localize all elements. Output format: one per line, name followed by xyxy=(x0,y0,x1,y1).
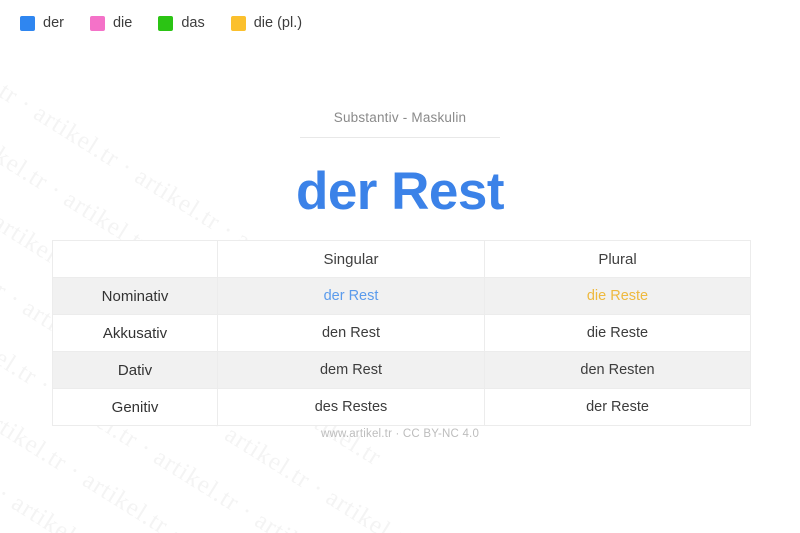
plural-form-cell: die Reste xyxy=(485,278,751,315)
footer-attribution: www.artikel.tr · CC BY-NC 4.0 xyxy=(0,428,800,440)
color-swatch-icon xyxy=(20,16,35,31)
legend-item-das-2: das xyxy=(158,16,204,31)
singular-form-cell: dem Rest xyxy=(218,352,485,389)
watermark-text: artikel.tr · artikel.tr · artikel.tr · a… xyxy=(0,512,536,533)
case-label-cell: Nominativ xyxy=(53,278,218,315)
color-swatch-icon xyxy=(90,16,105,31)
table-header: Singular Plural xyxy=(53,241,751,278)
case-label-cell: Akkusativ xyxy=(53,315,218,352)
legend-item-label: die (pl.) xyxy=(254,16,302,31)
table-row: Akkusativden Restdie Reste xyxy=(53,315,751,352)
singular-form-cell: den Rest xyxy=(218,315,485,352)
table-header-row: Singular Plural xyxy=(53,241,751,278)
legend-item-label: das xyxy=(181,16,204,31)
plural-form-cell: den Resten xyxy=(485,352,751,389)
plural-form-cell: die Reste xyxy=(485,315,751,352)
case-label-cell: Dativ xyxy=(53,352,218,389)
word-header: Substantiv - Maskulin der Rest xyxy=(0,110,800,220)
column-header-case xyxy=(53,241,218,278)
table-row: Dativdem Restden Resten xyxy=(53,352,751,389)
declension-table: Singular Plural Nominativder Restdie Res… xyxy=(52,240,751,426)
column-header-plural: Plural xyxy=(485,241,751,278)
singular-form-cell: der Rest xyxy=(218,278,485,315)
table-row: Nominativder Restdie Reste xyxy=(53,278,751,315)
table-row: Genitivdes Restesder Reste xyxy=(53,389,751,426)
article-color-legend: derdiedasdie (pl.) xyxy=(20,16,302,31)
table-body: Nominativder Restdie ResteAkkusativden R… xyxy=(53,278,751,426)
color-swatch-icon xyxy=(231,16,246,31)
column-header-singular: Singular xyxy=(218,241,485,278)
legend-item-der-0: der xyxy=(20,16,64,31)
case-label-cell: Genitiv xyxy=(53,389,218,426)
watermark-text: artikel.tr · artikel.tr · artikel.tr · a… xyxy=(0,426,506,533)
legend-item-label: der xyxy=(43,16,64,31)
plural-form-cell: der Reste xyxy=(485,389,751,426)
legend-item-label: die xyxy=(113,16,132,31)
legend-item-die-1: die xyxy=(90,16,132,31)
header-divider xyxy=(300,137,500,138)
color-swatch-icon xyxy=(158,16,173,31)
word-type-label: Substantiv - Maskulin xyxy=(0,110,800,125)
singular-form-cell: des Restes xyxy=(218,389,485,426)
legend-item-diepl-3: die (pl.) xyxy=(231,16,302,31)
page-title: der Rest xyxy=(0,164,800,220)
